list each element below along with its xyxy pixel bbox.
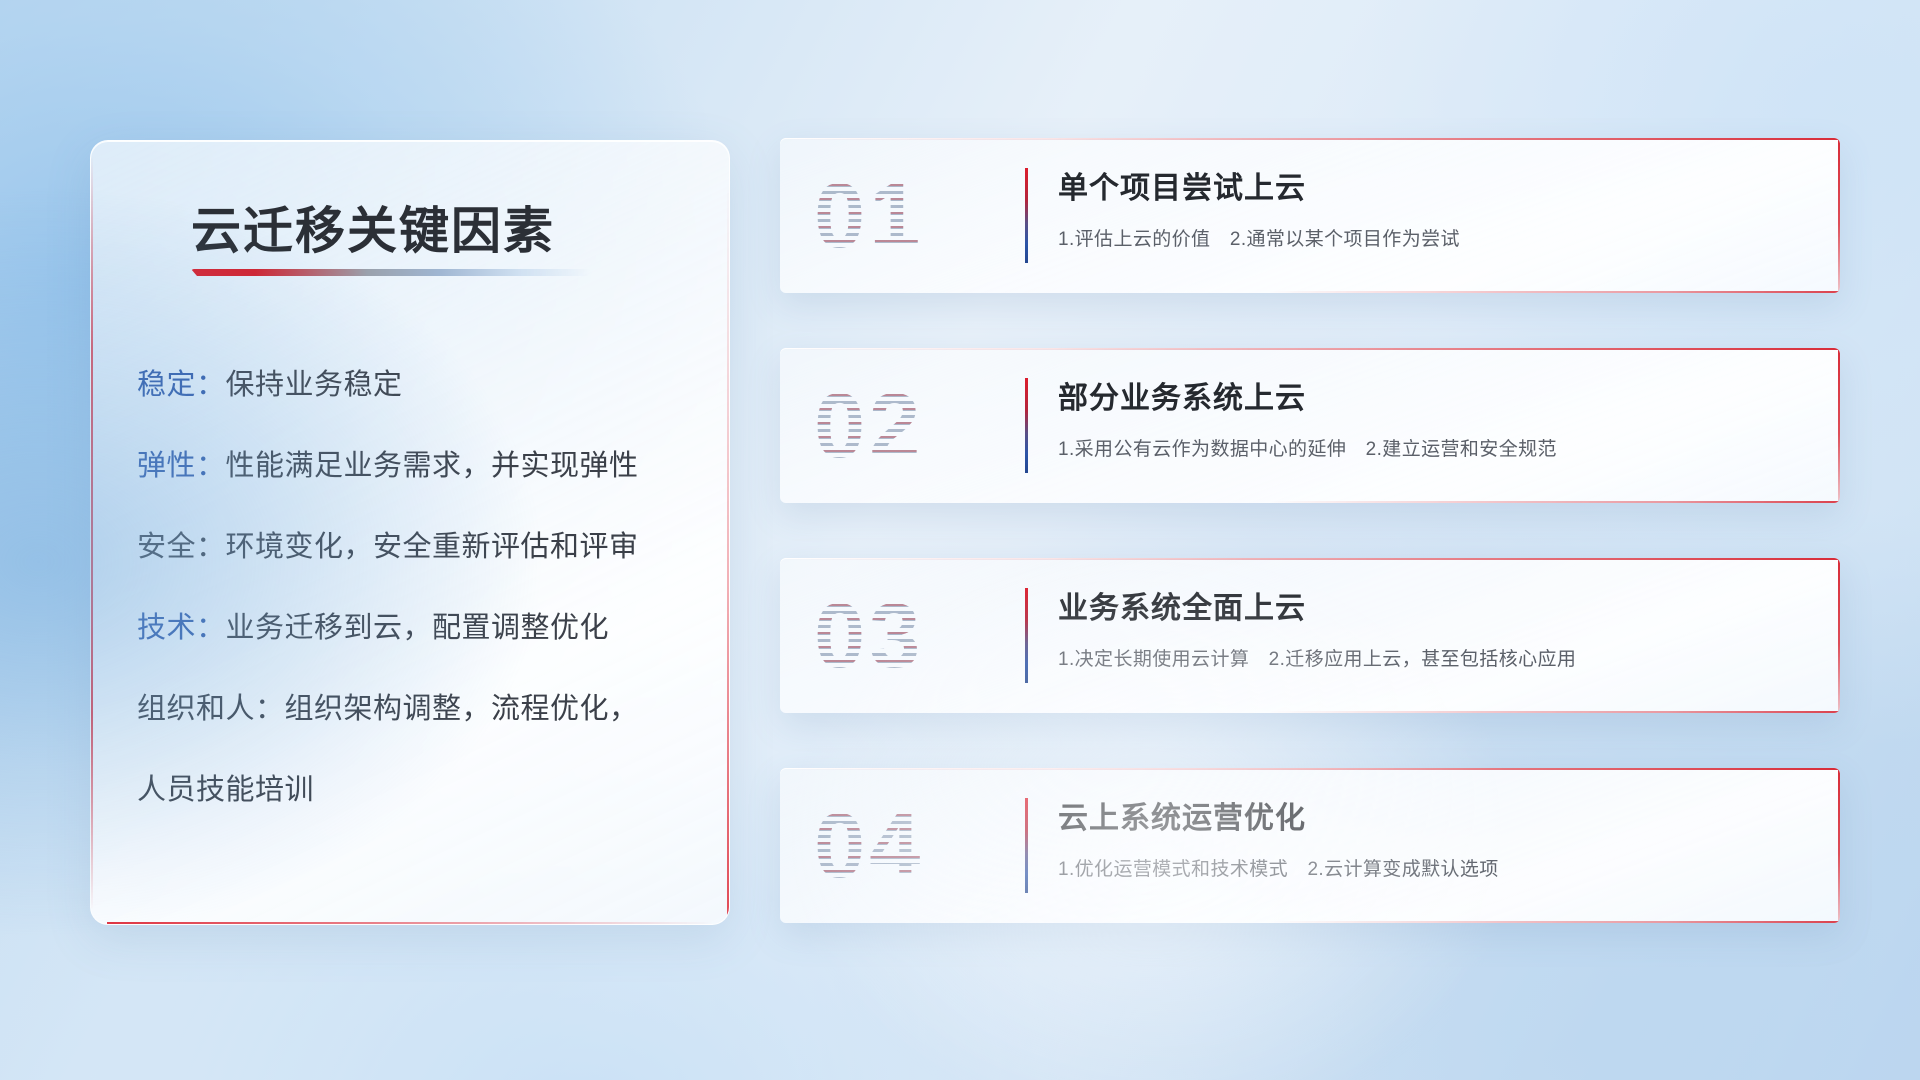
card-top-accent-line [780, 768, 1840, 770]
panel-bottom-accent-line [107, 922, 713, 924]
factor-item: 组织和人：组织架构调整，流程优化， [137, 695, 693, 724]
panel-title: 云迁移关键因素 [191, 191, 555, 263]
card-top-accent-line [780, 138, 1840, 140]
step-card-02[interactable]: 02 02 部分业务系统上云 1.采用公有云作为数据中心的延伸 2.建立运营和安… [780, 348, 1840, 503]
step-text-block: 业务系统全面上云 1.决定长期使用云计算 2.迁移应用上云，甚至包括核心应用 [1058, 592, 1800, 671]
step-card-01[interactable]: 01 01 单个项目尝试上云 1.评估上云的价值 2.通常以某个项目作为尝试 [780, 138, 1840, 293]
step-number-watermark-tint: 03 [814, 590, 924, 682]
card-bottom-accent-line [1268, 921, 1840, 923]
card-bottom-accent-line [1268, 291, 1840, 293]
factor-item-continuation: 人员技能培训 [137, 776, 693, 805]
key-factors-panel: 云迁移关键因素 稳定：保持业务稳定 弹性：性能满足业务需求，并实现弹性 安全：环… [90, 140, 730, 925]
factor-label: 弹性： [137, 450, 226, 482]
factor-value: 性能满足业务需求，并实现弹性 [226, 450, 639, 482]
factor-item: 安全：环境变化，安全重新评估和评审 [137, 533, 693, 562]
step-title: 单个项目尝试上云 [1058, 172, 1800, 205]
card-right-accent-line [1838, 768, 1840, 923]
factor-label: 稳定： [137, 369, 226, 401]
slide-canvas: 云迁移关键因素 稳定：保持业务稳定 弹性：性能满足业务需求，并实现弹性 安全：环… [0, 0, 1920, 1080]
step-title: 业务系统全面上云 [1058, 592, 1800, 625]
step-text-block: 单个项目尝试上云 1.评估上云的价值 2.通常以某个项目作为尝试 [1058, 172, 1800, 251]
step-subtitle: 1.评估上云的价值 2.通常以某个项目作为尝试 [1058, 224, 1800, 251]
step-subtitle: 1.优化运营模式和技术模式 2.云计算变成默认选项 [1058, 854, 1800, 881]
card-divider-bar [1025, 798, 1028, 893]
step-card-03[interactable]: 03 03 业务系统全面上云 1.决定长期使用云计算 2.迁移应用上云，甚至包括… [780, 558, 1840, 713]
key-factors-list: 稳定：保持业务稳定 弹性：性能满足业务需求，并实现弹性 安全：环境变化，安全重新… [137, 371, 693, 857]
card-right-accent-line [1838, 138, 1840, 293]
factor-value: 组织架构调整，流程优化， [285, 693, 639, 725]
migration-steps-list: 01 01 单个项目尝试上云 1.评估上云的价值 2.通常以某个项目作为尝试 0… [780, 138, 1840, 978]
title-underline-gradient [191, 269, 591, 276]
card-top-accent-line [780, 348, 1840, 350]
factor-item: 稳定：保持业务稳定 [137, 371, 693, 400]
step-subtitle: 1.决定长期使用云计算 2.迁移应用上云，甚至包括核心应用 [1058, 644, 1800, 671]
panel-right-accent-line [727, 181, 729, 918]
step-title: 云上系统运营优化 [1058, 802, 1800, 835]
card-divider-bar [1025, 588, 1028, 683]
factor-value: 保持业务稳定 [226, 369, 403, 401]
card-divider-bar [1025, 378, 1028, 473]
step-number-watermark-tint: 04 [814, 800, 924, 892]
factor-label: 安全： [137, 531, 226, 563]
factor-item: 技术：业务迁移到云，配置调整优化 [137, 614, 693, 643]
factor-value: 人员技能培训 [137, 774, 314, 806]
step-subtitle: 1.采用公有云作为数据中心的延伸 2.建立运营和安全规范 [1058, 434, 1800, 461]
card-divider-bar [1025, 168, 1028, 263]
factor-label: 组织和人： [137, 693, 285, 725]
card-right-accent-line [1838, 348, 1840, 503]
card-bottom-accent-line [1268, 711, 1840, 713]
step-number-watermark-tint: 02 [814, 380, 924, 472]
factor-item: 弹性：性能满足业务需求，并实现弹性 [137, 452, 693, 481]
factor-label: 技术： [137, 612, 226, 644]
factor-value: 环境变化，安全重新评估和评审 [226, 531, 639, 563]
step-card-04[interactable]: 04 04 云上系统运营优化 1.优化运营模式和技术模式 2.云计算变成默认选项 [780, 768, 1840, 923]
step-number-watermark-tint: 01 [814, 170, 924, 262]
factor-value: 业务迁移到云，配置调整优化 [226, 612, 610, 644]
step-text-block: 部分业务系统上云 1.采用公有云作为数据中心的延伸 2.建立运营和安全规范 [1058, 382, 1800, 461]
card-right-accent-line [1838, 558, 1840, 713]
card-bottom-accent-line [1268, 501, 1840, 503]
step-title: 部分业务系统上云 [1058, 382, 1800, 415]
card-top-accent-line [780, 558, 1840, 560]
step-text-block: 云上系统运营优化 1.优化运营模式和技术模式 2.云计算变成默认选项 [1058, 802, 1800, 881]
panel-left-accent-line [91, 155, 93, 910]
